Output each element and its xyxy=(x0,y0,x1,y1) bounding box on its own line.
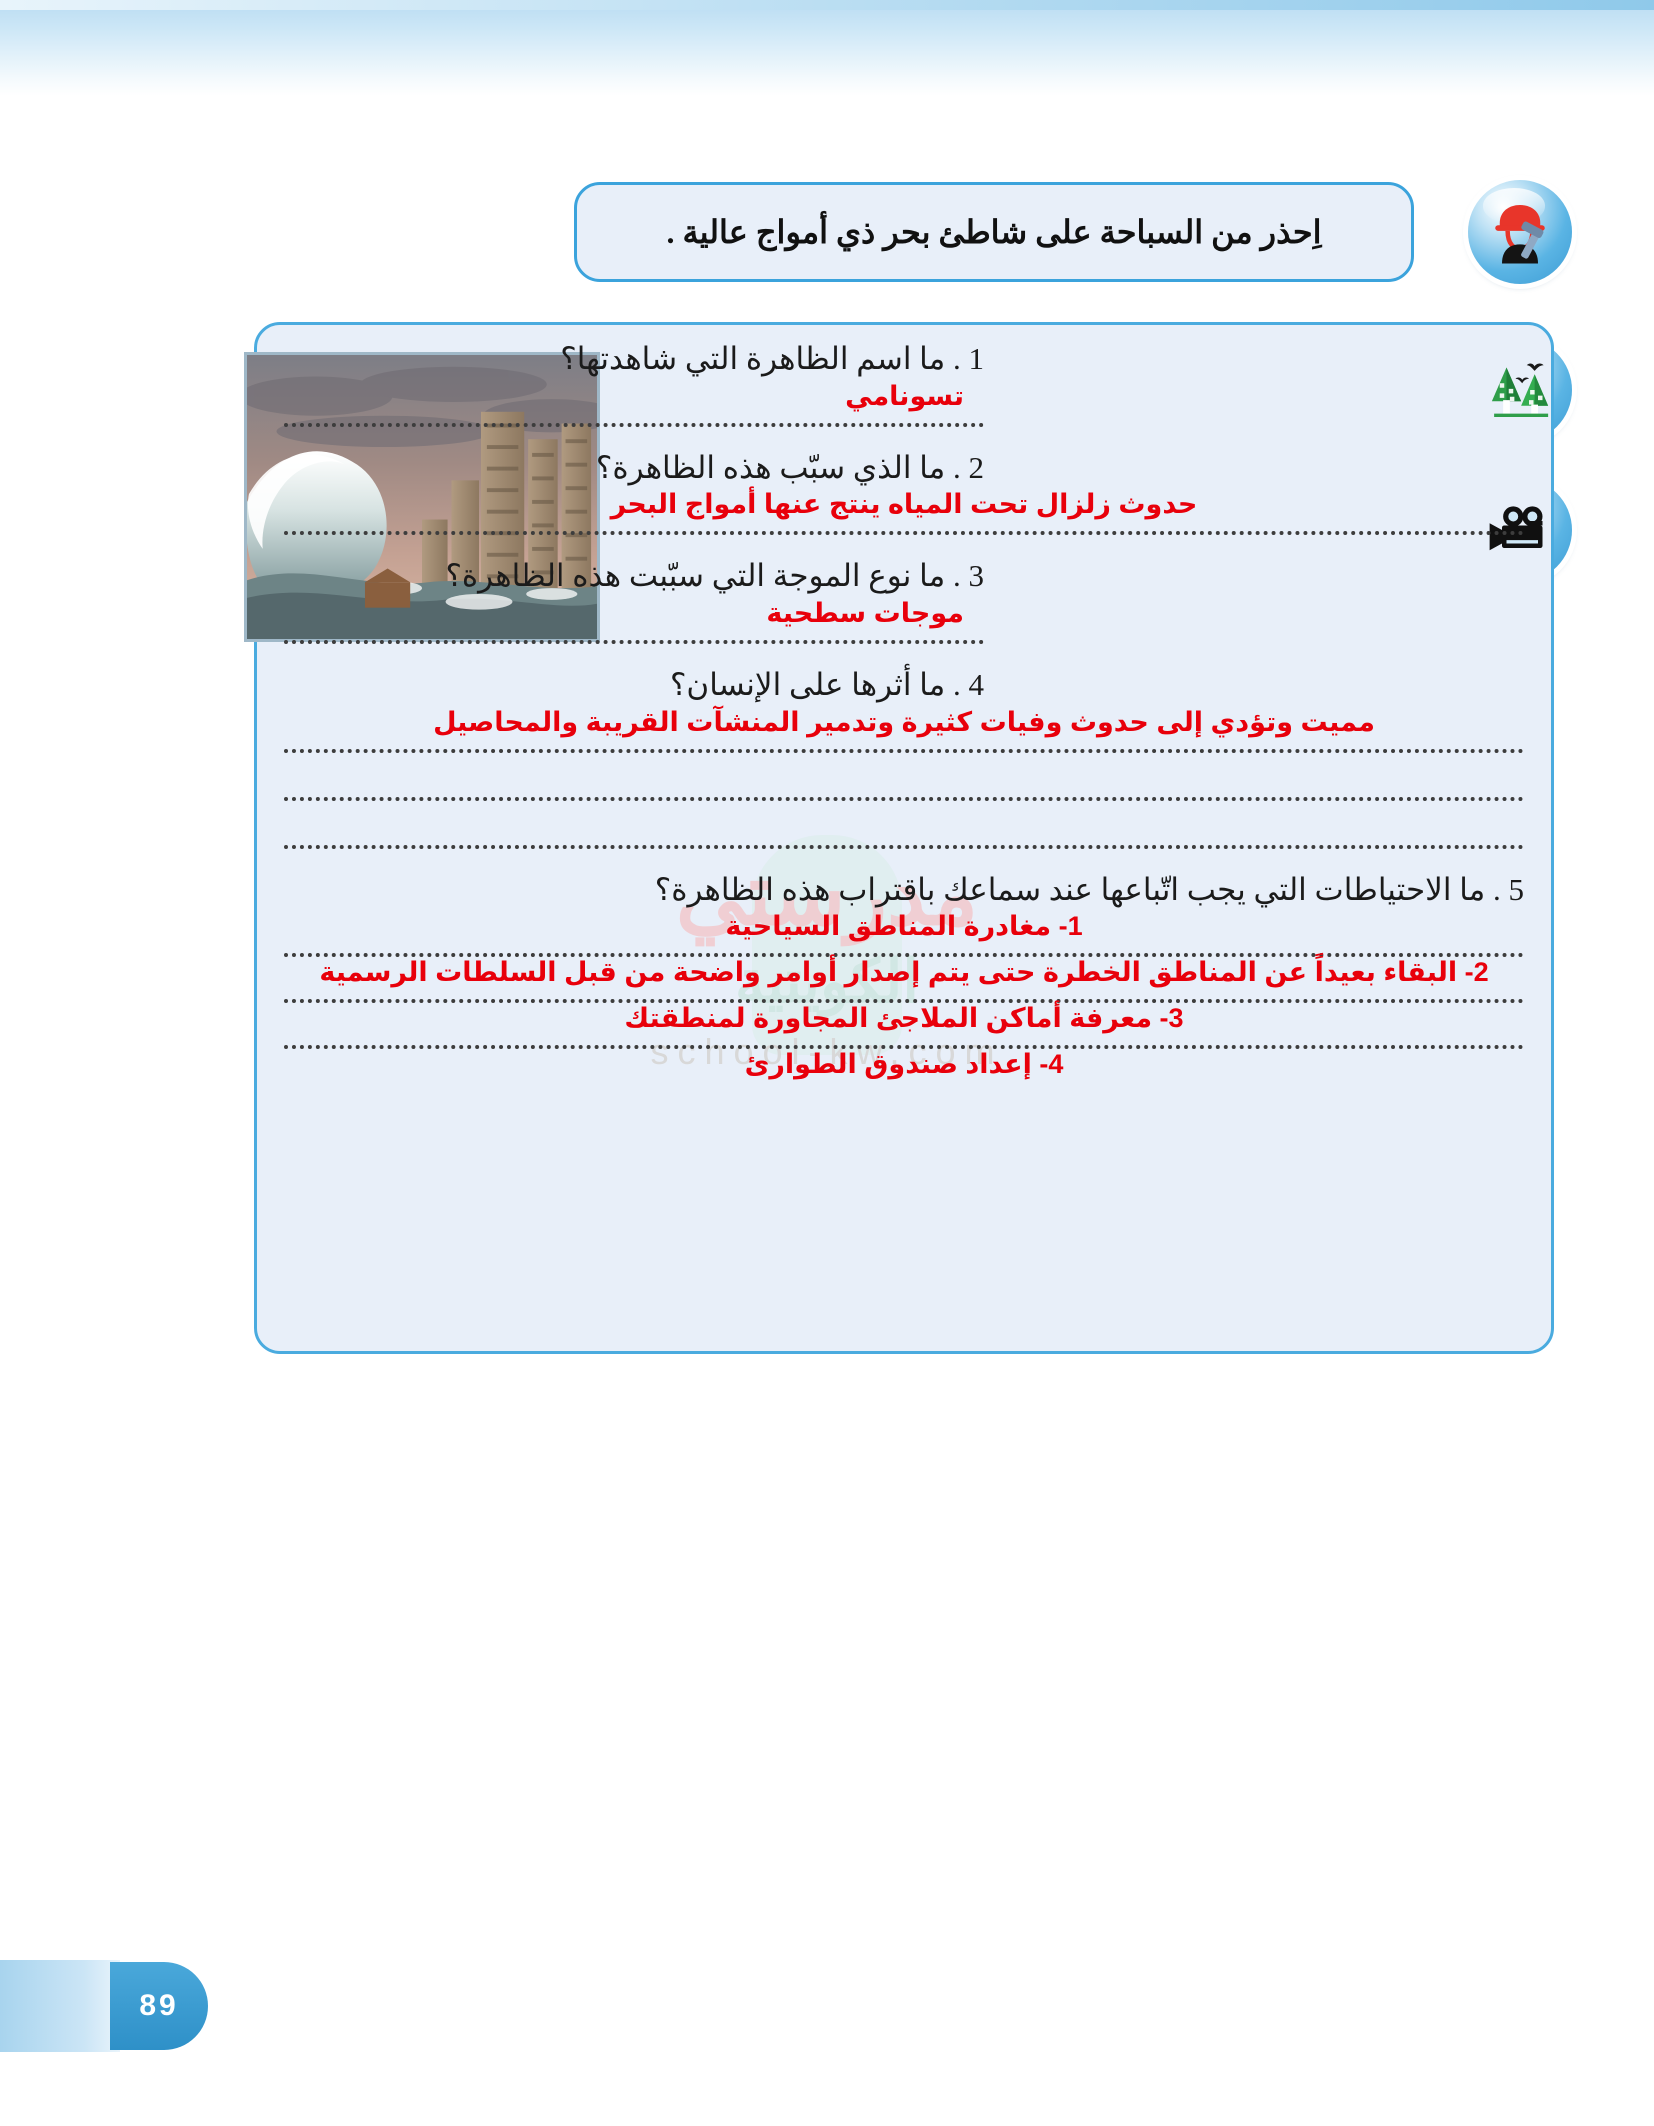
answer-line-5b xyxy=(284,993,1524,1003)
question-5-answer-4: 4- إعداد صندوق الطوارئ xyxy=(284,1049,1524,1081)
textbook-page: مدرستي الكويتية school-kw.com اِحذر من ا… xyxy=(0,0,1654,2126)
answer-line-2 xyxy=(284,525,1524,535)
top-decorative-band xyxy=(0,0,1654,96)
answer-line-4c xyxy=(284,839,1524,849)
worker-helmet-hammer-icon[interactable] xyxy=(1468,180,1572,284)
page-number-badge: 89 xyxy=(110,1962,208,2050)
answer-line-1 xyxy=(284,417,984,427)
answer-line-5c xyxy=(284,1039,1524,1049)
question-5-answer-2: 2- البقاء بعيداً عن المناطق الخطرة حتى ي… xyxy=(284,957,1524,989)
question-2-text: 2 . ما الذي سبّب هذه الظاهرة؟ xyxy=(284,447,1524,490)
answer-line-3 xyxy=(284,634,984,644)
question-3-answer-1: موجات سطحية xyxy=(284,598,1524,630)
warning-text: اِحذر من السباحة على شاطئ بحر ذي أمواج ع… xyxy=(666,213,1321,251)
bottom-edge-strip xyxy=(0,1960,120,2052)
question-4-answer-1: مميت وتؤدي إلى حدوث وفيات كثيرة وتدمير ا… xyxy=(284,707,1524,739)
question-5-answer-1: 1- مغادرة المناطق السياحية xyxy=(284,911,1524,943)
question-5-text: 5 . ما الاحتياطات التي يجب اتّباعها عند … xyxy=(284,869,1524,912)
answer-line-4a xyxy=(284,743,1524,753)
question-4-text: 4 . ما أثرها على الإنسان؟ xyxy=(284,664,1524,707)
question-1-answer-1: تسونامي xyxy=(284,381,1524,413)
questions-column: 1 . ما اسم الظاهرة التي شاهدتها؟ تسونامي… xyxy=(284,338,1524,1081)
top-accent-stripe xyxy=(0,0,1654,10)
question-5-answer-3: 3- معرفة أماكن الملاجئ المجاورة لمنطقتك xyxy=(284,1003,1524,1035)
question-1-text: 1 . ما اسم الظاهرة التي شاهدتها؟ xyxy=(284,338,1524,381)
question-2-answer-1: حدوث زلزال تحت المياه ينتج عنها أمواج ال… xyxy=(284,489,1524,521)
warning-callout: اِحذر من السباحة على شاطئ بحر ذي أمواج ع… xyxy=(574,182,1414,282)
answer-line-4b xyxy=(284,791,1524,801)
answer-line-5a xyxy=(284,947,1524,957)
worker-glyph xyxy=(1484,196,1556,268)
question-3-text: 3 . ما نوع الموجة التي سبّبت هذه الظاهرة… xyxy=(284,555,1524,598)
